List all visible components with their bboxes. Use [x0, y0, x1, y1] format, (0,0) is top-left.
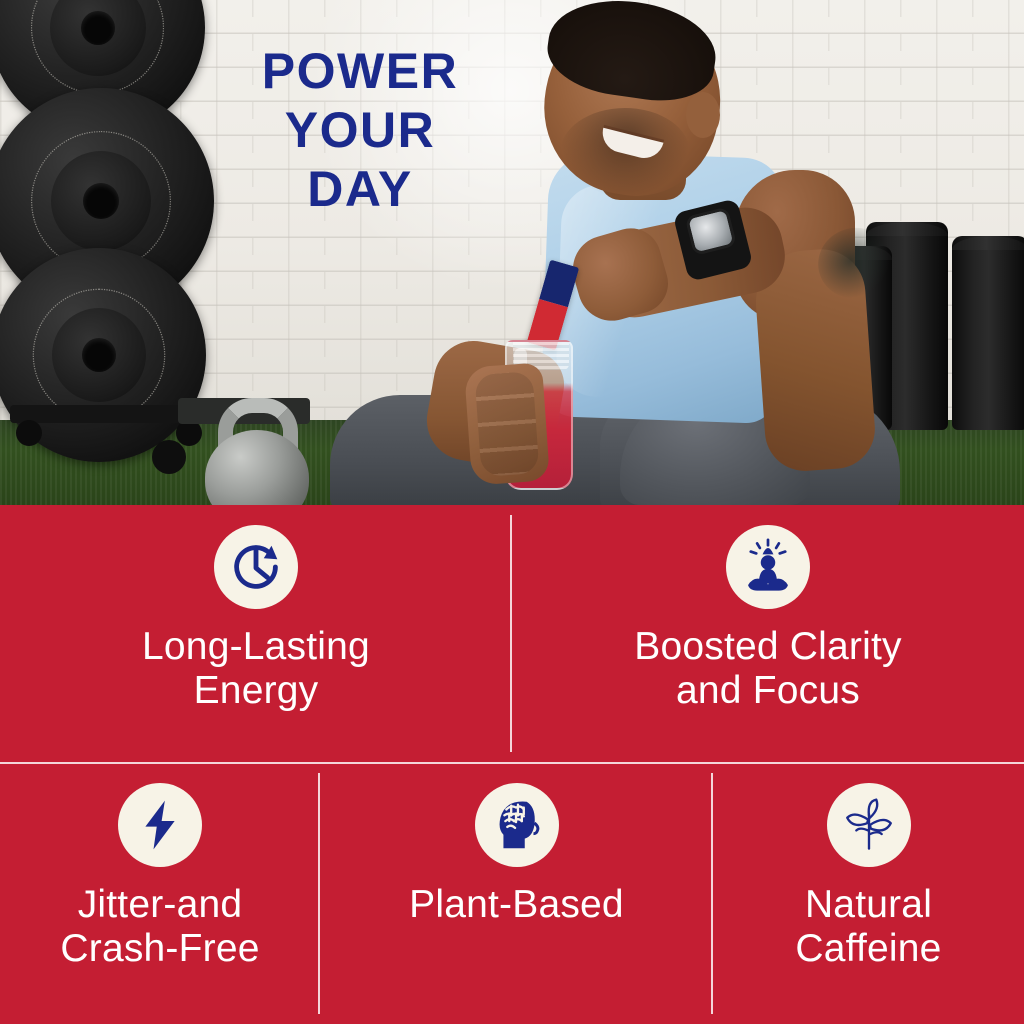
hero-photo: POWER YOUR DAY [0, 0, 1024, 505]
benefit-label: Plant-Based [409, 883, 624, 927]
meditation-icon [726, 525, 810, 609]
benefit-plant-based[interactable]: Plant-Based [320, 763, 713, 1024]
page-title: POWER YOUR DAY [210, 42, 510, 219]
clock-icon [214, 525, 298, 609]
headline-line-2: YOUR [210, 101, 510, 160]
benefit-label: Natural Caffeine [795, 883, 941, 972]
benefits-panel: Long-Lasting Energy [0, 505, 1024, 1024]
benefits-row-bottom: Jitter-and Crash-Free [0, 763, 1024, 1024]
benefit-long-lasting-energy[interactable]: Long-Lasting Energy [0, 505, 512, 762]
watch-face [685, 207, 737, 256]
model-figure [0, 0, 1024, 505]
headline-line-3: DAY [210, 160, 510, 219]
benefit-boosted-clarity-and-focus[interactable]: Boosted Clarity and Focus [512, 505, 1024, 762]
benefit-label-line: Boosted Clarity [634, 625, 901, 669]
benefit-natural-caffeine[interactable]: Natural Caffeine [713, 763, 1024, 1024]
benefit-label-line: Plant-Based [409, 883, 624, 927]
leaf-icon [827, 783, 911, 867]
benefit-label: Long-Lasting Energy [142, 625, 370, 714]
benefits-row-top: Long-Lasting Energy [0, 505, 1024, 762]
benefit-jitter-and-crash-free[interactable]: Jitter-and Crash-Free [0, 763, 320, 1024]
benefit-label-line: and Focus [634, 669, 901, 713]
model-gripping-hand [464, 362, 550, 485]
lightning-icon [118, 783, 202, 867]
headline-line-1: POWER [210, 42, 510, 101]
benefit-label-line: Jitter-and [60, 883, 259, 927]
model-ear [686, 92, 720, 138]
benefit-label-line: Natural [795, 883, 941, 927]
promo-banner: POWER YOUR DAY Long-Lasting Energy [0, 0, 1024, 1024]
benefit-label: Boosted Clarity and Focus [634, 625, 901, 714]
benefit-label-line: Crash-Free [60, 927, 259, 971]
benefit-label: Jitter-and Crash-Free [60, 883, 259, 972]
benefit-label-line: Energy [142, 669, 370, 713]
benefit-label-line: Caffeine [795, 927, 941, 971]
benefit-label-line: Long-Lasting [142, 625, 370, 669]
brain-head-icon [475, 783, 559, 867]
